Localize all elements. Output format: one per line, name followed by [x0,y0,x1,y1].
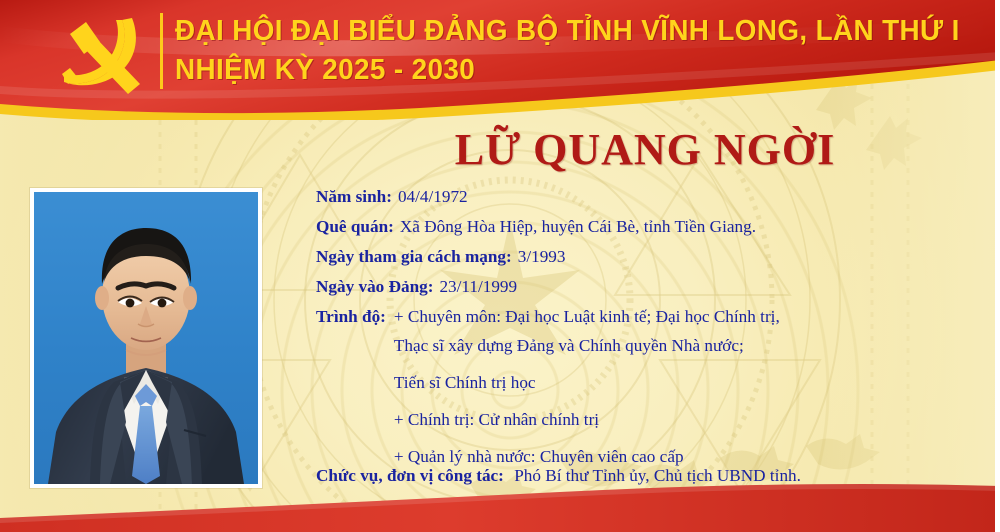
info-label-party-date: Ngày vào Đảng: [316,272,433,302]
info-value-hometown: Xã Đông Hòa Hiệp, huyện Cái Bè, tỉnh Tiề… [400,212,756,242]
page-title: LỮ QUANG NGỜI [300,122,990,178]
hammer-and-sickle-icon [48,12,166,98]
education-line-4: + Chính trị: Cử nhân chính trị [394,405,984,434]
footer-wave [0,472,1000,532]
poster-root: ĐẠI HỘI ĐẠI BIỂU ĐẢNG BỘ TỈNH VĨNH LONG,… [0,0,1000,532]
header-banner: ĐẠI HỘI ĐẠI BIỂU ĐẢNG BỘ TỈNH VĨNH LONG,… [0,0,1000,120]
person-info-block: Năm sinh: 04/4/1972 Quê quán: Xã Đông Hò… [316,182,984,471]
header-text-block: ĐẠI HỘI ĐẠI BIỂU ĐẢNG BỘ TỈNH VĨNH LONG,… [175,12,985,90]
right-edge-margin [995,0,1000,532]
education-lines: + Chuyên môn: Đại học Luật kinh tế; Đại … [394,302,984,471]
info-value-party-date: 23/11/1999 [439,272,517,302]
header-line-2: NHIỆM KỲ 2025 - 2030 [175,51,953,90]
info-row-birth: Năm sinh: 04/4/1972 [316,182,984,212]
portrait-photo [34,192,258,484]
portrait-illustration [34,192,258,484]
info-label-hometown: Quê quán: [316,212,394,242]
info-row-party-date: Ngày vào Đảng: 23/11/1999 [316,272,984,302]
header-divider [160,13,163,89]
header-line-1: ĐẠI HỘI ĐẠI BIỂU ĐẢNG BỘ TỈNH VĨNH LONG,… [175,12,953,51]
education-line-3: Tiến sĩ Chính trị học [394,368,984,397]
info-label-birth: Năm sinh: [316,182,392,212]
education-label: Trình độ: [316,302,386,332]
education-line-2: Thạc sĩ xây dựng Đảng và Chính quyền Nhà… [394,331,984,360]
info-row-revolution-date: Ngày tham gia cách mạng: 3/1993 [316,242,984,272]
portrait-frame [30,188,262,488]
info-label-revolution-date: Ngày tham gia cách mạng: [316,242,512,272]
education-line-1: + Chuyên môn: Đại học Luật kinh tế; Đại … [394,302,984,331]
info-value-revolution-date: 3/1993 [518,242,566,272]
education-block: Trình độ: + Chuyên môn: Đại học Luật kin… [316,302,984,471]
info-row-hometown: Quê quán: Xã Đông Hòa Hiệp, huyện Cái Bè… [316,212,984,242]
footer-wave-shape [0,472,1000,532]
info-value-birth: 04/4/1972 [398,182,468,212]
